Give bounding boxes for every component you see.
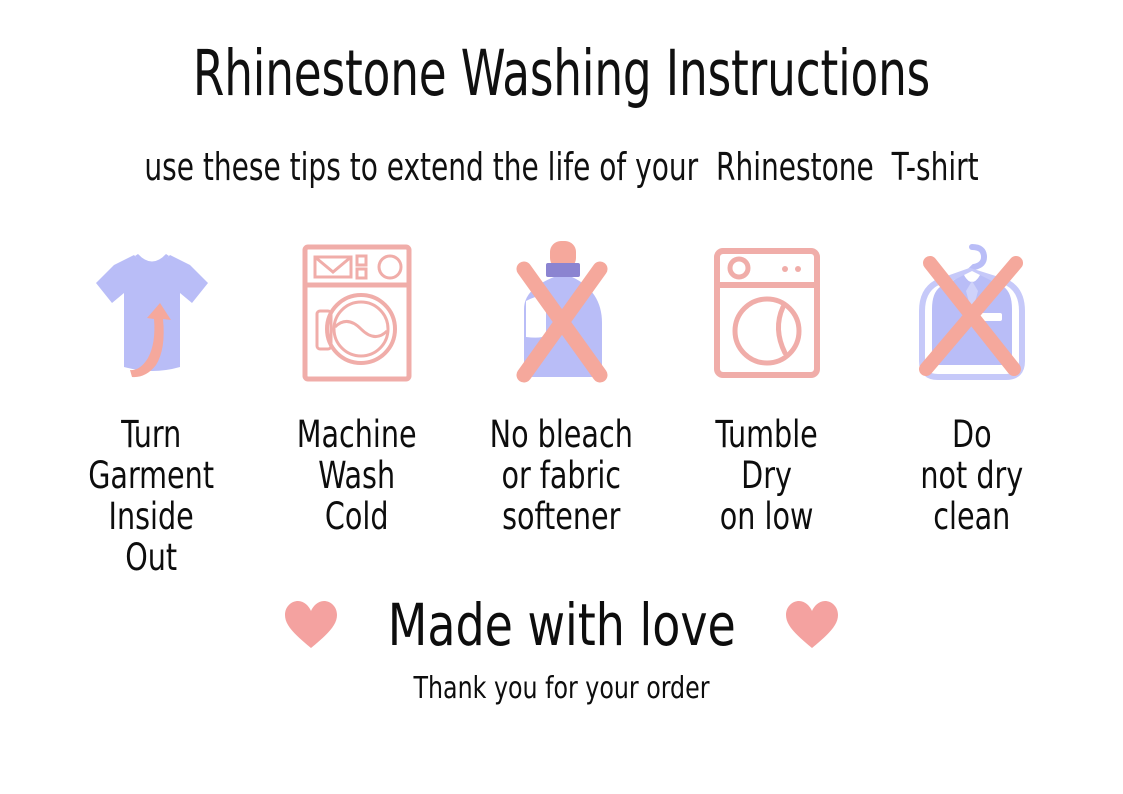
care-step-caption: Turn Garment Inside Out — [89, 414, 215, 578]
page-subtitle: use these tips to extend the life of you… — [101, 148, 1022, 186]
care-step-turn-inside-out: Turn Garment Inside Out — [49, 234, 254, 578]
care-instructions-card: Rhinestone Washing Instructions use thes… — [0, 0, 1123, 794]
care-step-caption: No bleach or fabric softener — [490, 414, 633, 537]
tshirt-inside-out-icon — [77, 234, 227, 392]
care-step-tumble-dry-low: Tumble Dry on low — [664, 234, 869, 537]
tumble-dryer-icon — [692, 234, 842, 392]
made-with-love-row: Made with love — [0, 594, 1123, 656]
care-steps-row: Turn Garment Inside Out M — [0, 234, 1123, 578]
care-step-machine-wash-cold: Machine Wash Cold — [254, 234, 459, 537]
heart-icon — [785, 600, 839, 650]
care-step-no-dry-clean: Do not dry clean — [869, 234, 1074, 537]
washing-machine-icon — [282, 234, 432, 392]
care-step-caption: Machine Wash Cold — [297, 414, 417, 537]
care-step-caption: Tumble Dry on low — [715, 414, 817, 537]
care-step-caption: Do not dry clean — [920, 414, 1023, 537]
page-title: Rhinestone Washing Instructions — [112, 42, 1010, 105]
made-with-love-text: Made with love — [387, 594, 735, 656]
no-bleach-bottle-icon — [487, 234, 637, 392]
no-dry-clean-icon — [897, 234, 1047, 392]
care-step-no-bleach: No bleach or fabric softener — [459, 234, 664, 537]
heart-icon — [284, 600, 338, 650]
thank-you-text: Thank you for your order — [67, 672, 1055, 706]
